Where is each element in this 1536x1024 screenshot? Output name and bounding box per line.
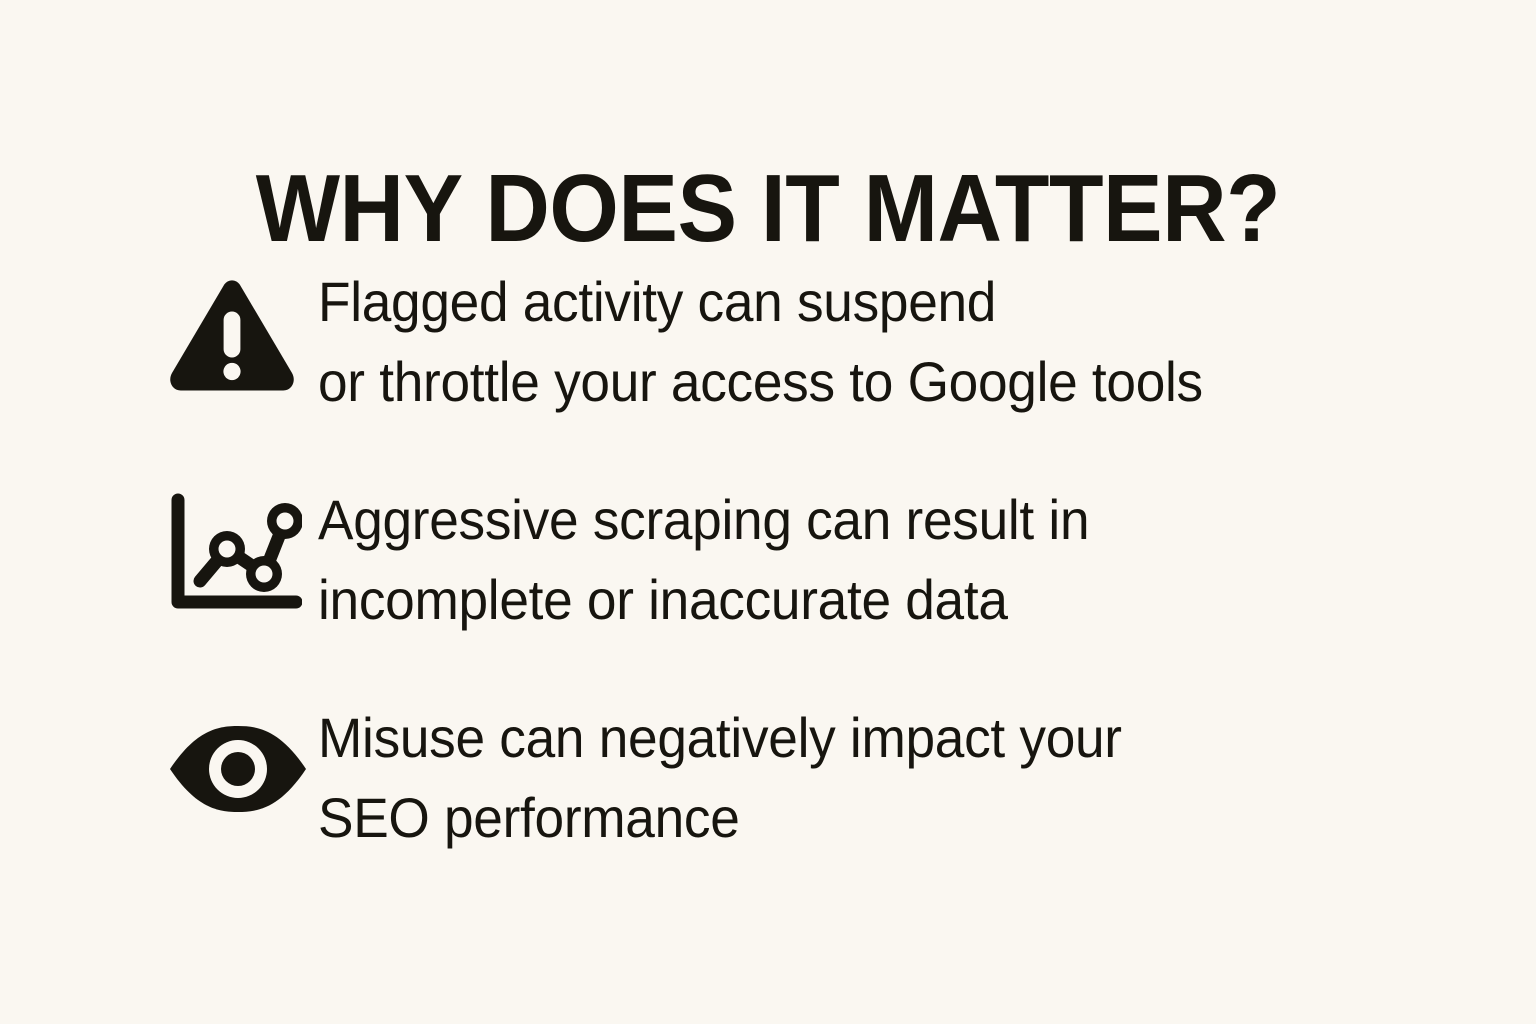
list-item-line: Flagged activity can suspend	[318, 262, 1411, 342]
page-title: WHY DOES IT MATTER?	[54, 160, 1482, 258]
list-item-text: Flagged activity can suspend or throttle…	[318, 262, 1411, 422]
slide-canvas: WHY DOES IT MATTER? Flagged activity can…	[0, 0, 1536, 1024]
list-item-line: Aggressive scraping can result in	[318, 480, 1411, 560]
list-item-line: Misuse can negatively impact your	[318, 698, 1411, 778]
list-item: Aggressive scraping can result in incomp…	[168, 480, 1468, 640]
benefit-list: Flagged activity can suspend or throttle…	[168, 262, 1468, 858]
line-chart-icon	[168, 480, 318, 612]
list-item: Misuse can negatively impact your SEO pe…	[168, 698, 1468, 858]
list-item: Flagged activity can suspend or throttle…	[168, 262, 1468, 422]
eye-icon	[168, 698, 318, 814]
list-item-text: Misuse can negatively impact your SEO pe…	[318, 698, 1411, 858]
list-item-line: or throttle your access to Google tools	[318, 342, 1411, 422]
list-item-line: SEO performance	[318, 778, 1411, 858]
list-item-line: incomplete or inaccurate data	[318, 560, 1411, 640]
list-item-text: Aggressive scraping can result in incomp…	[318, 480, 1411, 640]
warning-triangle-icon	[168, 262, 318, 396]
